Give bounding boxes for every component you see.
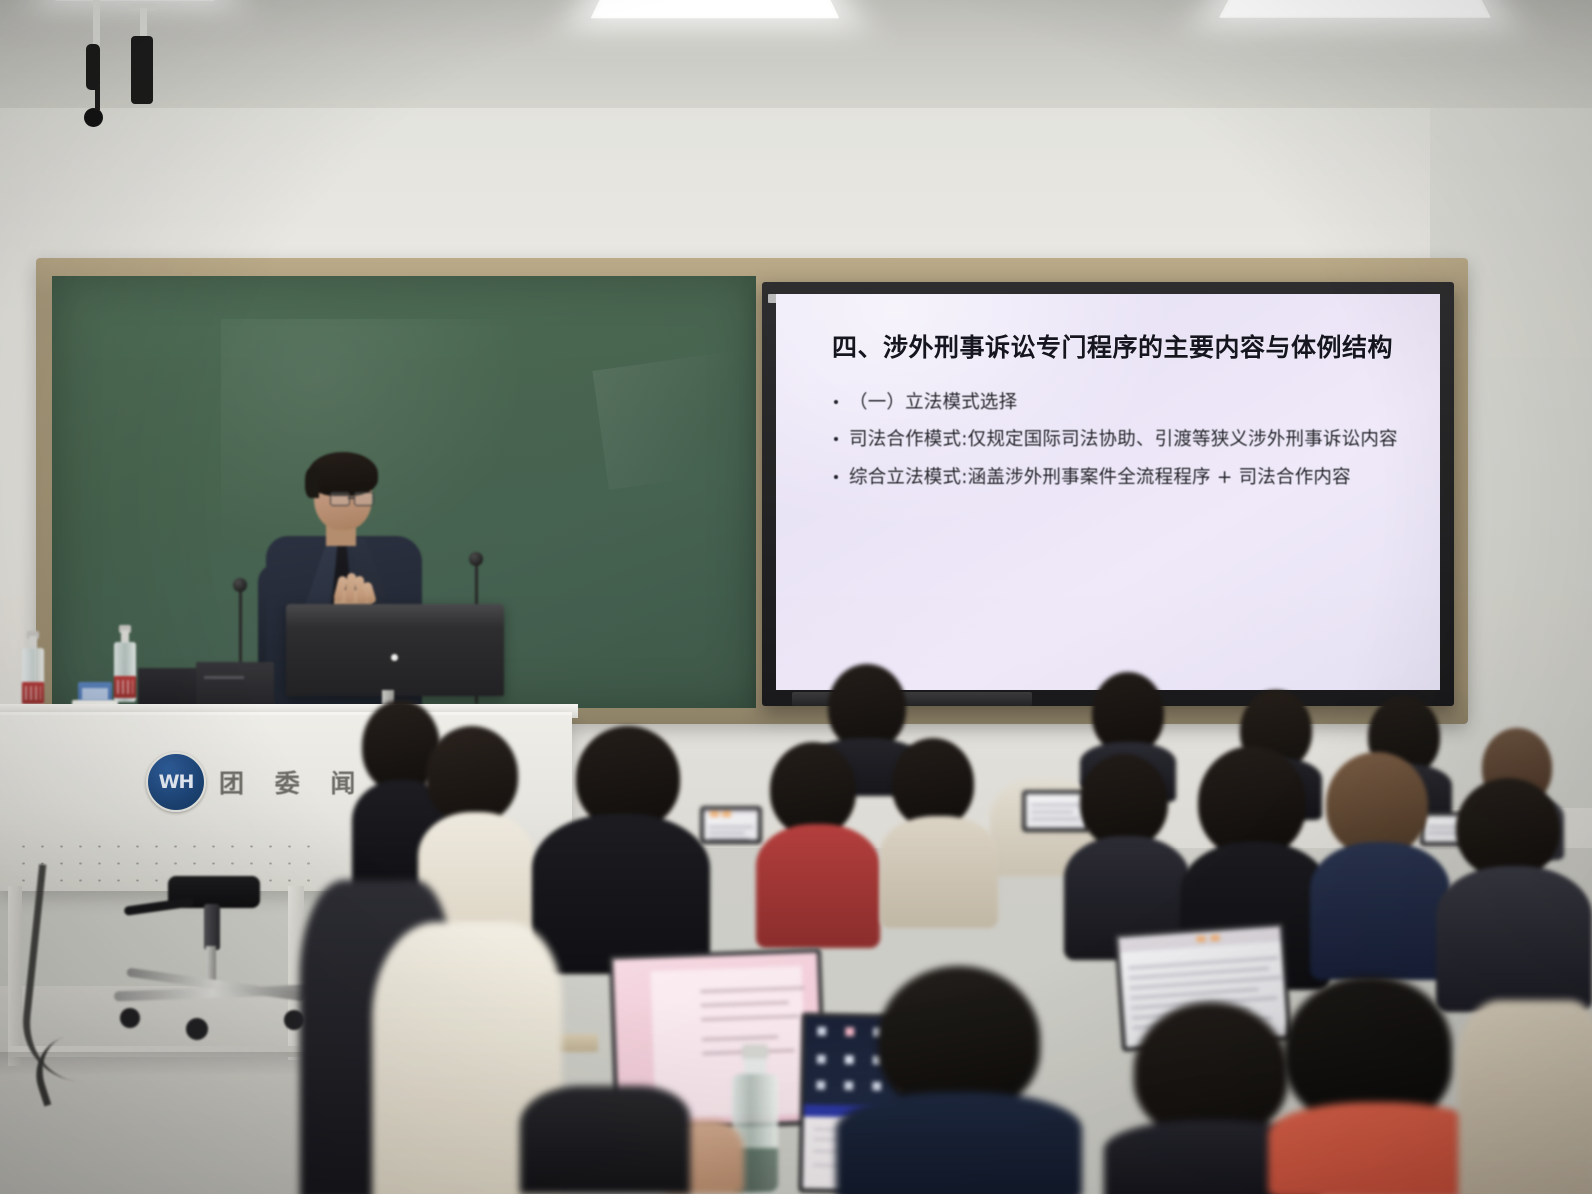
office-chair[interactable]: [108, 876, 318, 1044]
student: [520, 1086, 690, 1194]
student: [1064, 754, 1190, 950]
podium-monitor[interactable]: [286, 604, 504, 696]
slide-bullet-list: （一）立法模式选择 司法合作模式:仅规定国际司法协助、引渡等狭义涉外刑事诉讼内容…: [832, 390, 1414, 491]
slide-bullet: 司法合作模式:仅规定国际司法协助、引渡等狭义涉外刑事诉讼内容: [832, 427, 1414, 453]
ceiling-light-panel: [591, 0, 840, 18]
slide-bullet: 综合立法模式:涵盖涉外刑事案件全流程程序 + 司法合作内容: [832, 465, 1414, 491]
logo-monogram: WH: [159, 771, 194, 793]
slide: 四、涉外刑事诉讼专门程序的主要内容与体例结构 （一）立法模式选择 司法合作模式:…: [776, 294, 1440, 690]
wh-emblem-icon: WH: [146, 752, 206, 812]
student: [1458, 1000, 1592, 1194]
student: [756, 742, 880, 938]
ceiling-light-panel: [1219, 0, 1491, 18]
student: [1436, 778, 1592, 1000]
student: [880, 738, 998, 918]
presentation-screen[interactable]: 四、涉外刑事诉讼专门程序的主要内容与体例结构 （一）立法模式选择 司法合作模式:…: [776, 294, 1440, 690]
glasses-icon: [330, 492, 374, 505]
student: [1268, 976, 1488, 1194]
student: [1310, 752, 1450, 968]
slide-bullet: （一）立法模式选择: [832, 390, 1414, 416]
student: [836, 966, 1082, 1194]
slide-title: 四、涉外刑事诉讼专门程序的主要内容与体例结构: [832, 332, 1414, 364]
classroom-photo: 四、涉外刑事诉讼专门程序的主要内容与体例结构 （一）立法模式选择 司法合作模式:…: [0, 0, 1592, 1194]
lecturer-hair: [308, 452, 378, 496]
